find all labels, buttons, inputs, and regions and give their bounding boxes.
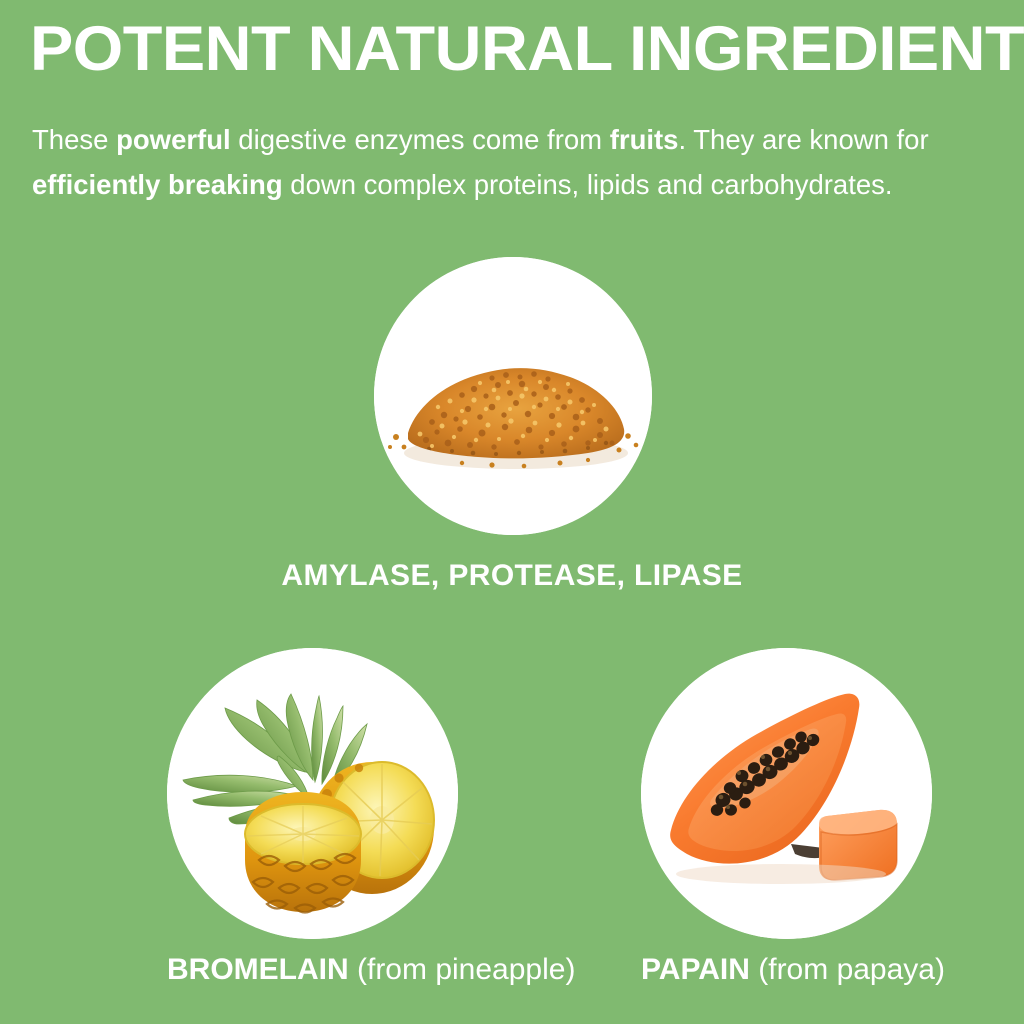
pineapple-half-left: [245, 792, 361, 913]
intro-paragraph: These powerful digestive enzymes come fr…: [32, 117, 984, 207]
page-title: POTENT NATURAL INGREDIENTS: [30, 16, 1024, 82]
intro-bold-powerful: powerful: [116, 124, 231, 155]
intro-text-4: down complex proteins, lipids and carboh…: [283, 169, 893, 200]
papaya-circle: [641, 648, 932, 939]
infographic-canvas: POTENT NATURAL INGREDIENTS These powerfu…: [0, 0, 1024, 1024]
papain-caption-light: (from papaya): [750, 953, 945, 986]
intro-bold-efficiently-breaking: efficiently breaking: [32, 169, 283, 200]
bromelain-caption: BROMELAIN (from pineapple): [167, 952, 458, 988]
enzyme-granules-image: [374, 257, 652, 535]
pineapple-image: [167, 648, 458, 939]
enzyme-caption: AMYLASE, PROTEASE, LIPASE: [0, 558, 1024, 594]
enzyme-caption-bold: AMYLASE, PROTEASE, LIPASE: [281, 559, 742, 592]
papaya-image: [641, 648, 932, 939]
intro-text-1: These: [32, 124, 116, 155]
pineapple-circle: [167, 648, 458, 939]
intro-bold-fruits: fruits: [610, 124, 679, 155]
papain-caption: PAPAIN (from papaya): [641, 952, 932, 988]
intro-text-3: . They are known for: [678, 124, 928, 155]
enzyme-granules-circle: [374, 257, 652, 535]
papain-caption-bold: PAPAIN: [641, 953, 750, 986]
intro-text-2: digestive enzymes come from: [231, 124, 610, 155]
papaya-ground-shadow: [676, 864, 886, 884]
bromelain-caption-bold: BROMELAIN: [167, 953, 349, 986]
bromelain-caption-light: (from pineapple): [349, 953, 576, 986]
